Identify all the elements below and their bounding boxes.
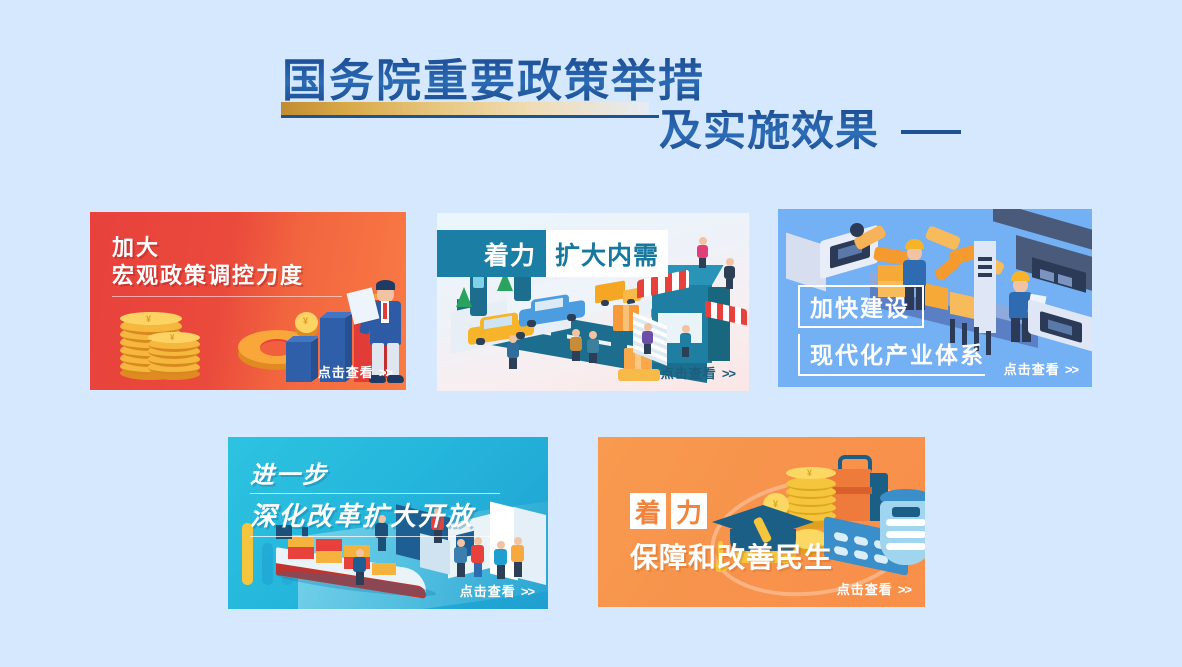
parcel-pedestal (618, 369, 660, 381)
card-industry-title-line1: 加快建设 (810, 295, 910, 321)
card-demand-title-line1: 着力 (484, 236, 536, 272)
person-r7 (353, 549, 366, 585)
page-title: 国务院重要政策举措 及实施效果 (282, 58, 942, 168)
title-line2-wrap: 及实施效果 (659, 110, 961, 153)
card-industry[interactable]: 加快建设 现代化产业体系 点击查看>> (778, 209, 1092, 387)
card-welfare-char2: 力 (671, 493, 707, 529)
card-industry-cta[interactable]: 点击查看>> (1004, 359, 1078, 378)
pedestrian-2 (570, 329, 582, 361)
chevron-right-icon: >> (722, 366, 735, 381)
card-industry-title-box2: 现代化产业体系 (798, 334, 985, 376)
card-demand-cta[interactable]: 点击查看>> (661, 363, 735, 382)
card-reform-rule1 (250, 493, 500, 494)
card-reform-title-line1: 进一步 (250, 455, 508, 490)
card-demand-title-line2: 扩大内需 (555, 236, 659, 272)
card-reform-cta[interactable]: 点击查看>> (460, 581, 534, 600)
card-demand-title: 着力 扩大内需 (437, 230, 668, 277)
title-blue-underline (281, 115, 659, 118)
chevron-right-icon: >> (898, 582, 911, 597)
card-macro-rule (112, 296, 342, 297)
title-tail-line (901, 130, 961, 134)
title-line1-wrap: 国务院重要政策举措 (282, 58, 705, 103)
card-macro-title: 加大 宏观政策调控力度 (112, 234, 342, 297)
pedestrian-5 (724, 258, 735, 288)
card-demand[interactable]: 着力 扩大内需 点击查看>> (437, 213, 749, 391)
pedestrian-6 (642, 323, 653, 353)
title-gold-bar (281, 102, 649, 115)
page-title-line1: 国务院重要政策举措 (282, 58, 705, 103)
car-blue (519, 295, 585, 325)
pedestrian-1 (507, 335, 519, 369)
pedestrian-4 (697, 237, 708, 267)
chevron-right-icon: >> (1065, 362, 1078, 377)
page-root: 国务院重要政策举措 及实施效果 ¥ (0, 0, 1182, 667)
card-macro-cta[interactable]: 点击查看>> (318, 362, 392, 381)
card-industry-cta-label: 点击查看 (1004, 362, 1060, 377)
coin-stack-small: ¥ (148, 332, 200, 380)
card-macro-title-line2: 宏观政策调控力度 (112, 262, 342, 290)
card-reform-title-line2: 深化改革扩大开放 (250, 496, 508, 533)
card-reform-rule2 (250, 536, 508, 537)
pedestrian-3 (587, 331, 599, 363)
person-r4 (471, 537, 484, 577)
person-r5 (494, 541, 507, 579)
card-demand-title-box2: 扩大内需 (546, 230, 668, 277)
card-industry-title-box1: 加快建设 (798, 285, 924, 328)
chevron-right-icon: >> (521, 584, 534, 599)
card-reform-cta-label: 点击查看 (460, 584, 516, 599)
card-welfare-char1: 着 (630, 493, 666, 529)
card-macro-title-line1: 加大 (112, 234, 342, 262)
person-r6 (511, 537, 524, 577)
card-demand-cta-label: 点击查看 (661, 366, 717, 381)
card-reform-title: 进一步 深化改革扩大开放 (250, 455, 508, 537)
card-welfare-title-line2: 保障和改善民生 (630, 536, 833, 576)
card-welfare[interactable]: ¥ ¥ (598, 437, 925, 607)
card-welfare-title-line1: 着 力 (630, 493, 833, 529)
card-welfare-title: 着 力 保障和改善民生 (630, 493, 833, 576)
card-macro-cta-label: 点击查看 (318, 365, 374, 380)
card-reform[interactable]: 进一步 深化改革扩大开放 点击查看>> (228, 437, 548, 609)
page-title-line2: 及实施效果 (659, 110, 879, 153)
card-welfare-cta-label: 点击查看 (837, 582, 893, 597)
card-demand-title-box1: 着力 (437, 230, 546, 277)
medicine-bottle (876, 489, 925, 575)
card-industry-title-line2: 现代化产业体系 (810, 342, 985, 368)
chevron-right-icon: >> (379, 365, 392, 380)
pedestrian-7 (680, 325, 691, 357)
person-r3 (454, 539, 467, 577)
card-welfare-cta[interactable]: 点击查看>> (837, 579, 911, 598)
tree-icon-1 (456, 287, 472, 307)
card-macro[interactable]: ¥ ¥ ¥ (90, 212, 406, 390)
